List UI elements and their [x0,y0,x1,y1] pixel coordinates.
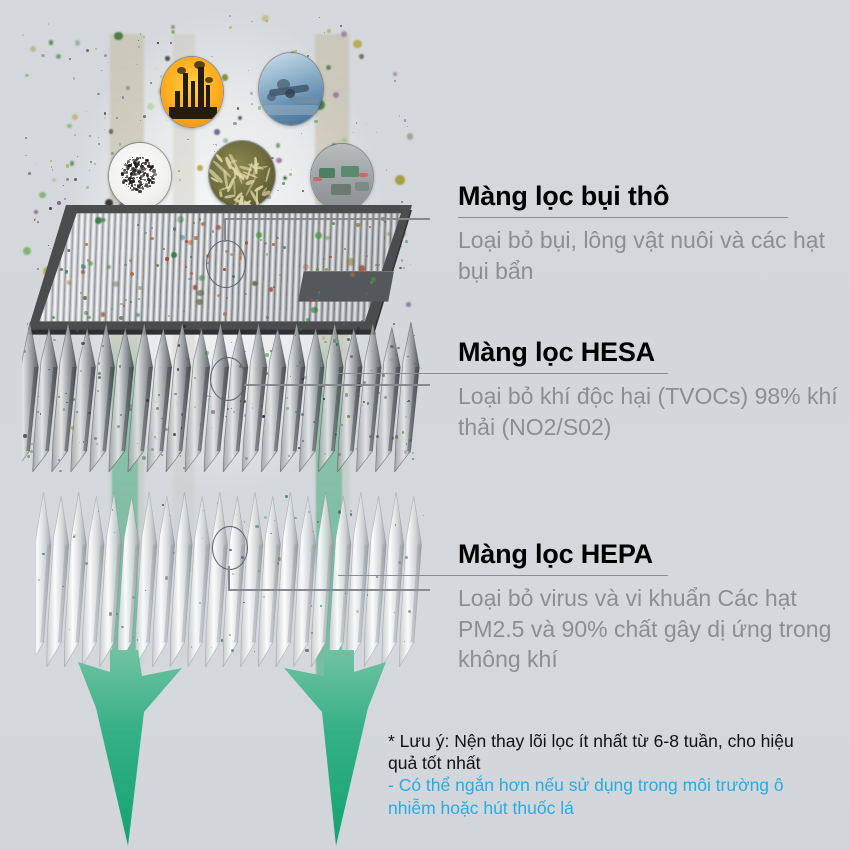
particle [248,70,249,71]
particle [25,155,27,157]
particle [229,15,232,18]
hepa-leader-line [228,589,430,591]
particle [86,186,89,189]
particle [356,122,358,124]
trapped-particle [201,222,205,226]
particle [289,173,292,176]
dust-speck [136,175,137,176]
particle [283,176,287,180]
particle [89,135,91,137]
filter-stack-illustration [0,0,430,850]
pollen-frond [218,190,222,197]
particle [104,117,106,119]
dust-speck [151,177,153,179]
particle [74,178,77,181]
trapped-particle [365,292,368,295]
trapped-particle [323,258,325,260]
particle [233,122,236,125]
particle [277,190,279,192]
particle [66,178,69,181]
dust-speck [133,162,134,163]
particle [407,133,414,140]
prefilter-info-block: Màng lọc bụi thô Loại bỏ bụi, lông vật n… [458,182,848,286]
dust-speck [133,169,136,172]
particle [276,143,281,148]
particle [116,117,118,119]
particle [74,134,76,136]
dust-speck [142,186,143,187]
particle [25,74,29,78]
trapped-particle [85,243,88,246]
prefilter-heading: Màng lọc bụi thô [458,182,848,212]
particle [366,123,367,124]
prefilter-handle-tab [298,271,394,302]
particle [327,29,331,33]
particle [394,80,396,82]
trapped-particle [119,316,123,320]
particle [28,172,31,175]
dust-speck [145,184,147,186]
particle [386,169,388,171]
prefilter-leader-line [224,218,226,242]
clean-airflow-arrow [72,650,192,850]
trapped-particle [83,296,87,300]
trapped-particle [125,299,127,301]
particle [97,93,100,96]
trapped-particle [188,240,193,245]
hepa-filter-layer [36,492,424,667]
particle [52,178,56,182]
dust-speck [139,184,141,186]
particle [359,54,364,59]
hepa-divider [338,575,668,577]
hepa-description: Loại bỏ virus và vi khuẩn Các hạt PM2.5 … [458,583,848,675]
trapped-particle [130,272,134,276]
particle [122,96,125,99]
dust-speck [134,159,137,162]
particle [143,115,145,117]
vehicle-exhaust-photo [258,52,324,126]
particle [393,72,397,76]
particle [276,158,281,163]
particle [41,54,44,57]
dust-speck [138,190,141,193]
particle [319,17,320,18]
particle [399,115,401,117]
particle [63,185,64,186]
particle [104,129,105,130]
trapped-particle [317,294,321,298]
trapped-particle [356,223,360,227]
dust-speck [131,168,133,170]
particle [22,34,24,36]
note-secondary: - Có thể ngắn hơn nếu sử dụng trong môi … [388,774,833,818]
trapped-particle [384,221,386,223]
trapped-particle [212,230,215,233]
hesa-leader-line [244,384,430,386]
dust-speck [125,177,126,178]
particle [89,170,90,171]
particle [333,92,339,98]
particle [72,114,78,120]
particle [250,92,253,95]
particle [126,86,130,90]
trapped-particle [67,280,72,285]
dust-speck [121,173,124,176]
trapped-particle [310,298,314,302]
particle [101,70,102,71]
particle [353,132,354,133]
particle [262,15,269,22]
prefilter-divider [458,217,788,219]
trapped-particle [347,258,355,266]
particle [48,23,49,24]
trapped-particle [279,274,281,276]
hepa-leader-line [228,566,230,590]
trapped-particle [101,218,105,222]
trapped-particle [81,264,84,267]
particle [178,170,180,172]
particle [51,166,52,167]
dust-speck [135,165,137,167]
particle [36,164,37,165]
particle [56,54,61,59]
particle [52,169,54,171]
hesa-description: Loại bỏ khí độc hại (TVOCs) 98% khí thải… [458,381,848,442]
dust-speck [126,171,129,174]
trapped-particle [101,312,106,317]
hesa-heading: Màng lọc HESA [458,338,848,368]
diagram-canvas: Màng lọc bụi thô Loại bỏ bụi, lông vật n… [0,0,850,850]
hesa-divider [338,373,668,375]
dust-speck [140,157,141,158]
dust-speck [140,178,142,180]
particle [147,103,154,110]
particle [326,65,331,70]
dust-speck [143,183,144,184]
trapped-particle [245,242,247,244]
trapped-particle [124,264,126,266]
particle [376,132,377,133]
particle [77,156,78,157]
particle [171,30,175,34]
particle [407,126,409,128]
particle [237,107,240,110]
trapped-particle [188,278,190,280]
particle [187,139,188,140]
trapped-particle [84,311,88,315]
prefilter-callout-ring [206,240,246,288]
factory-smokestack-photo [160,56,224,128]
particle [104,112,107,115]
particle [324,32,325,33]
hepa-heading: Màng lọc HEPA [458,540,848,570]
particle [238,116,242,120]
particle [229,26,232,29]
particle [86,49,89,52]
particle [70,161,75,166]
trapped-particle [316,268,319,271]
trapped-particle [165,257,168,260]
particle [30,46,36,52]
dust-speck [128,186,129,187]
trapped-particle [138,298,140,300]
particle [301,133,302,134]
particle [50,160,52,162]
trapped-particle [177,216,184,223]
dust-speck [151,181,154,184]
dust-speck [132,180,135,183]
trapped-particle [276,237,278,239]
dust-speck [153,173,156,176]
particle [90,161,92,163]
trapped-particle [311,307,318,314]
particle [98,137,99,138]
particle [66,164,70,168]
trapped-particle [245,293,247,295]
particle [49,40,54,45]
dust-speck [121,174,122,175]
prefilter-description: Loại bỏ bụi, lông vật nuôi và các hạt bụ… [458,225,848,286]
dust-speck [128,164,131,167]
particle [25,137,27,139]
particle [104,54,107,57]
trapped-particle [303,264,309,270]
particle [171,25,175,29]
particle [114,32,123,41]
particle [75,40,81,46]
note-primary: * Lưu ý: Nện thay lõi lọc ít nhất từ 6-8… [388,730,833,774]
particle [95,48,98,51]
particle [282,182,285,185]
dust-speck [143,176,144,177]
clean-airflow-arrow [272,650,392,850]
hesa-callout-ring [210,357,246,401]
trapped-particle [156,264,159,267]
filter-texture [36,492,424,667]
particle [337,35,338,36]
prefilter-leader-line [224,218,430,220]
dust-speck [144,162,145,163]
particle [395,175,405,185]
particle [94,163,97,166]
replacement-note: * Lưu ý: Nện thay lõi lọc ít nhất từ 6-8… [388,730,833,819]
trapped-particle [332,222,335,225]
particle [98,143,100,145]
hepa-info-block: Màng lọc HEPA Loại bỏ virus và vi khuẩn … [458,540,848,675]
particle [107,62,108,63]
particle [67,124,72,129]
particle [170,42,172,44]
particle [156,68,157,69]
particle [197,165,203,171]
particle [214,129,219,134]
particle [73,77,76,80]
particle [340,25,342,27]
hesa-info-block: Màng lọc HESA Loại bỏ khí độc hại (TVOCs… [458,338,848,442]
particle [251,21,253,23]
particle [291,169,292,170]
particle [342,138,346,142]
particle [143,36,145,38]
particle [251,103,253,105]
trapped-particle [150,237,153,240]
hepa-callout-ring [212,526,248,570]
trapped-particle [138,286,142,290]
particle [404,119,407,122]
dust-speck [150,167,152,169]
particle [353,40,362,49]
particle [69,58,71,60]
dust-speck [139,187,141,189]
particle [157,42,158,43]
trapped-particle [180,235,185,240]
particle [86,111,87,112]
trapped-particle [272,243,275,246]
particle [302,190,304,192]
trapped-particle [190,272,193,275]
particle [179,179,181,181]
text-panel: Màng lọc bụi thô Loại bỏ bụi, lông vật n… [420,0,850,850]
trapped-particle [283,246,286,249]
particle [150,82,153,85]
trapped-particle [194,236,198,240]
dust-speck [135,188,138,191]
trapped-particle [111,308,113,310]
trapped-particle [87,316,90,319]
trapped-particle [350,272,355,277]
trapped-particle [318,291,321,294]
